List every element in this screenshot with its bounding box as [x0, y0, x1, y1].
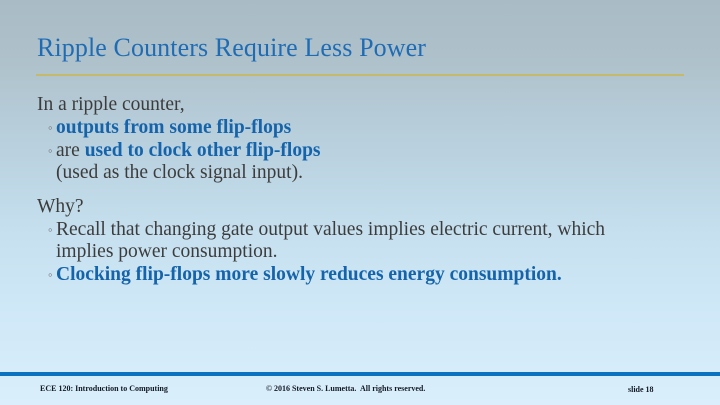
title-divider: [36, 74, 684, 76]
lead-text-why: Why?: [37, 195, 637, 218]
footer-course-name: ECE 120: Introduction to Computing: [40, 384, 168, 393]
list-item: ◦ Clocking flip-flops more slowly reduce…: [37, 264, 637, 287]
bullet-text-used-to-clock: used to clock other flip-flops: [85, 140, 321, 161]
block-spacer: [37, 185, 637, 195]
bullet-icon: ◦: [48, 264, 53, 286]
page-title: Ripple Counters Require Less Power: [37, 33, 687, 63]
slide-body: In a ripple counter, ◦ outputs from some…: [37, 93, 637, 286]
footer-divider-bar: [0, 372, 720, 376]
bullet-text-clock-signal-note: (used as the clock signal input).: [56, 162, 303, 183]
bullet-text-are: are: [56, 140, 85, 161]
bullet-icon: ◦: [48, 140, 53, 162]
list-item: ◦ Recall that changing gate output value…: [37, 219, 637, 264]
bullet-text-outputs: outputs from some flip-flops: [56, 117, 291, 138]
bullet-icon: ◦: [48, 117, 53, 139]
list-item: ◦ are used to clock other flip-flops (us…: [37, 140, 637, 185]
lead-text-ripple-counter: In a ripple counter,: [37, 93, 637, 116]
footer-slide-number: slide 18: [628, 385, 654, 394]
bullet-text-recall: Recall that changing gate output values …: [56, 219, 605, 263]
footer: ECE 120: Introduction to Computing © 201…: [0, 383, 720, 405]
list-item: ◦ outputs from some flip-flops: [37, 117, 637, 140]
bullet-list-block1: ◦ outputs from some flip-flops ◦ are use…: [37, 117, 637, 185]
bullet-icon: ◦: [48, 219, 53, 241]
bullet-text-clocking-slowly: Clocking flip-flops more slowly reduces …: [56, 264, 562, 285]
bullet-list-block2: ◦ Recall that changing gate output value…: [37, 219, 637, 287]
footer-copyright: © 2016 Steven S. Lumetta. All rights res…: [266, 384, 425, 393]
slide-canvas: Ripple Counters Require Less Power In a …: [0, 0, 720, 405]
